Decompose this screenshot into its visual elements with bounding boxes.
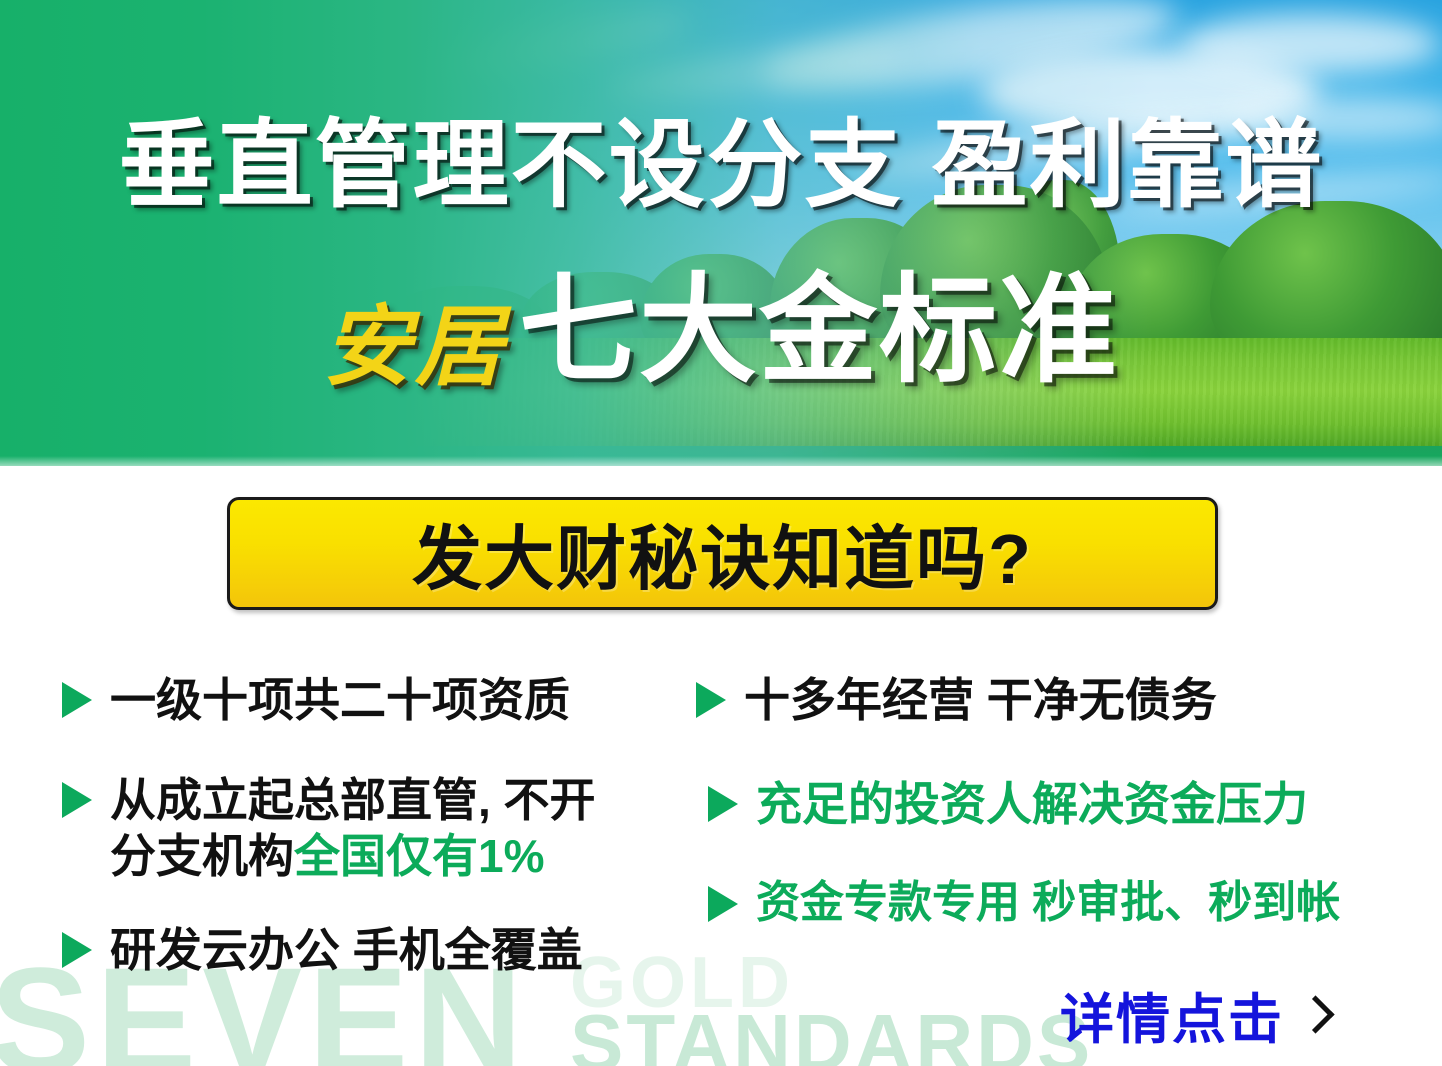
feature-text: 一级十项共二十项资质 (110, 672, 570, 728)
feature-text: 研发云办公 手机全覆盖 (110, 922, 583, 978)
feature-text: 十多年经营 干净无债务 (744, 672, 1217, 728)
triangle-bullet-icon (62, 682, 92, 718)
feature-item-left-3: 研发云办公 手机全覆盖 (62, 922, 583, 978)
hero-text-group: 垂直管理不设分支 盈利靠谱 安居七大金标准 (0, 0, 1442, 466)
hero-brand-text: 安居 (323, 303, 507, 391)
hero-subline-main: 七大金标准 (519, 272, 1119, 390)
triangle-bullet-icon (708, 886, 738, 922)
headline-cta-text: 发大财秘诀知道吗? (412, 503, 1033, 604)
feature-text-multiline: 从成立起总部直管, 不开 分支机构全国仅有1% (110, 772, 596, 884)
feature-item-left-2: 从成立起总部直管, 不开 分支机构全国仅有1% (62, 772, 596, 884)
headline-cta-banner[interactable]: 发大财秘诀知道吗? (227, 497, 1218, 610)
feature-item-right-1: 十多年经营 干净无债务 (696, 672, 1217, 728)
feature-text: 资金专款专用 秒审批、秒到帐 (756, 876, 1340, 930)
triangle-bullet-icon (696, 682, 726, 718)
triangle-bullet-icon (62, 782, 92, 818)
feature-text-line2-prefix: 分支机构 (110, 830, 294, 882)
feature-item-right-3: 资金专款专用 秒审批、秒到帐 (708, 876, 1340, 930)
triangle-bullet-icon (708, 786, 738, 822)
feature-lists: 一级十项共二十项资质 从成立起总部直管, 不开 分支机构全国仅有1% 研发云办公… (0, 650, 1442, 990)
details-link-label: 详情点击 (1060, 975, 1284, 1054)
feature-text-highlight: 全国仅有1% (294, 830, 544, 882)
watermark-standards: STANDARDS (570, 1003, 1093, 1066)
feature-item-left-1: 一级十项共二十项资质 (62, 672, 570, 728)
feature-text: 充足的投资人解决资金压力 (756, 776, 1308, 832)
details-link[interactable]: 详情点击 (1060, 975, 1329, 1054)
chevron-right-icon (1296, 995, 1334, 1033)
feature-item-right-2: 充足的投资人解决资金压力 (708, 776, 1308, 832)
feature-text-line1: 从成立起总部直管, 不开 (110, 774, 596, 826)
triangle-bullet-icon (62, 932, 92, 968)
hero-banner: 垂直管理不设分支 盈利靠谱 安居七大金标准 (0, 0, 1442, 466)
hero-headline: 垂直管理不设分支 盈利靠谱 (0, 118, 1442, 214)
hero-subline: 安居七大金标准 (0, 272, 1442, 391)
